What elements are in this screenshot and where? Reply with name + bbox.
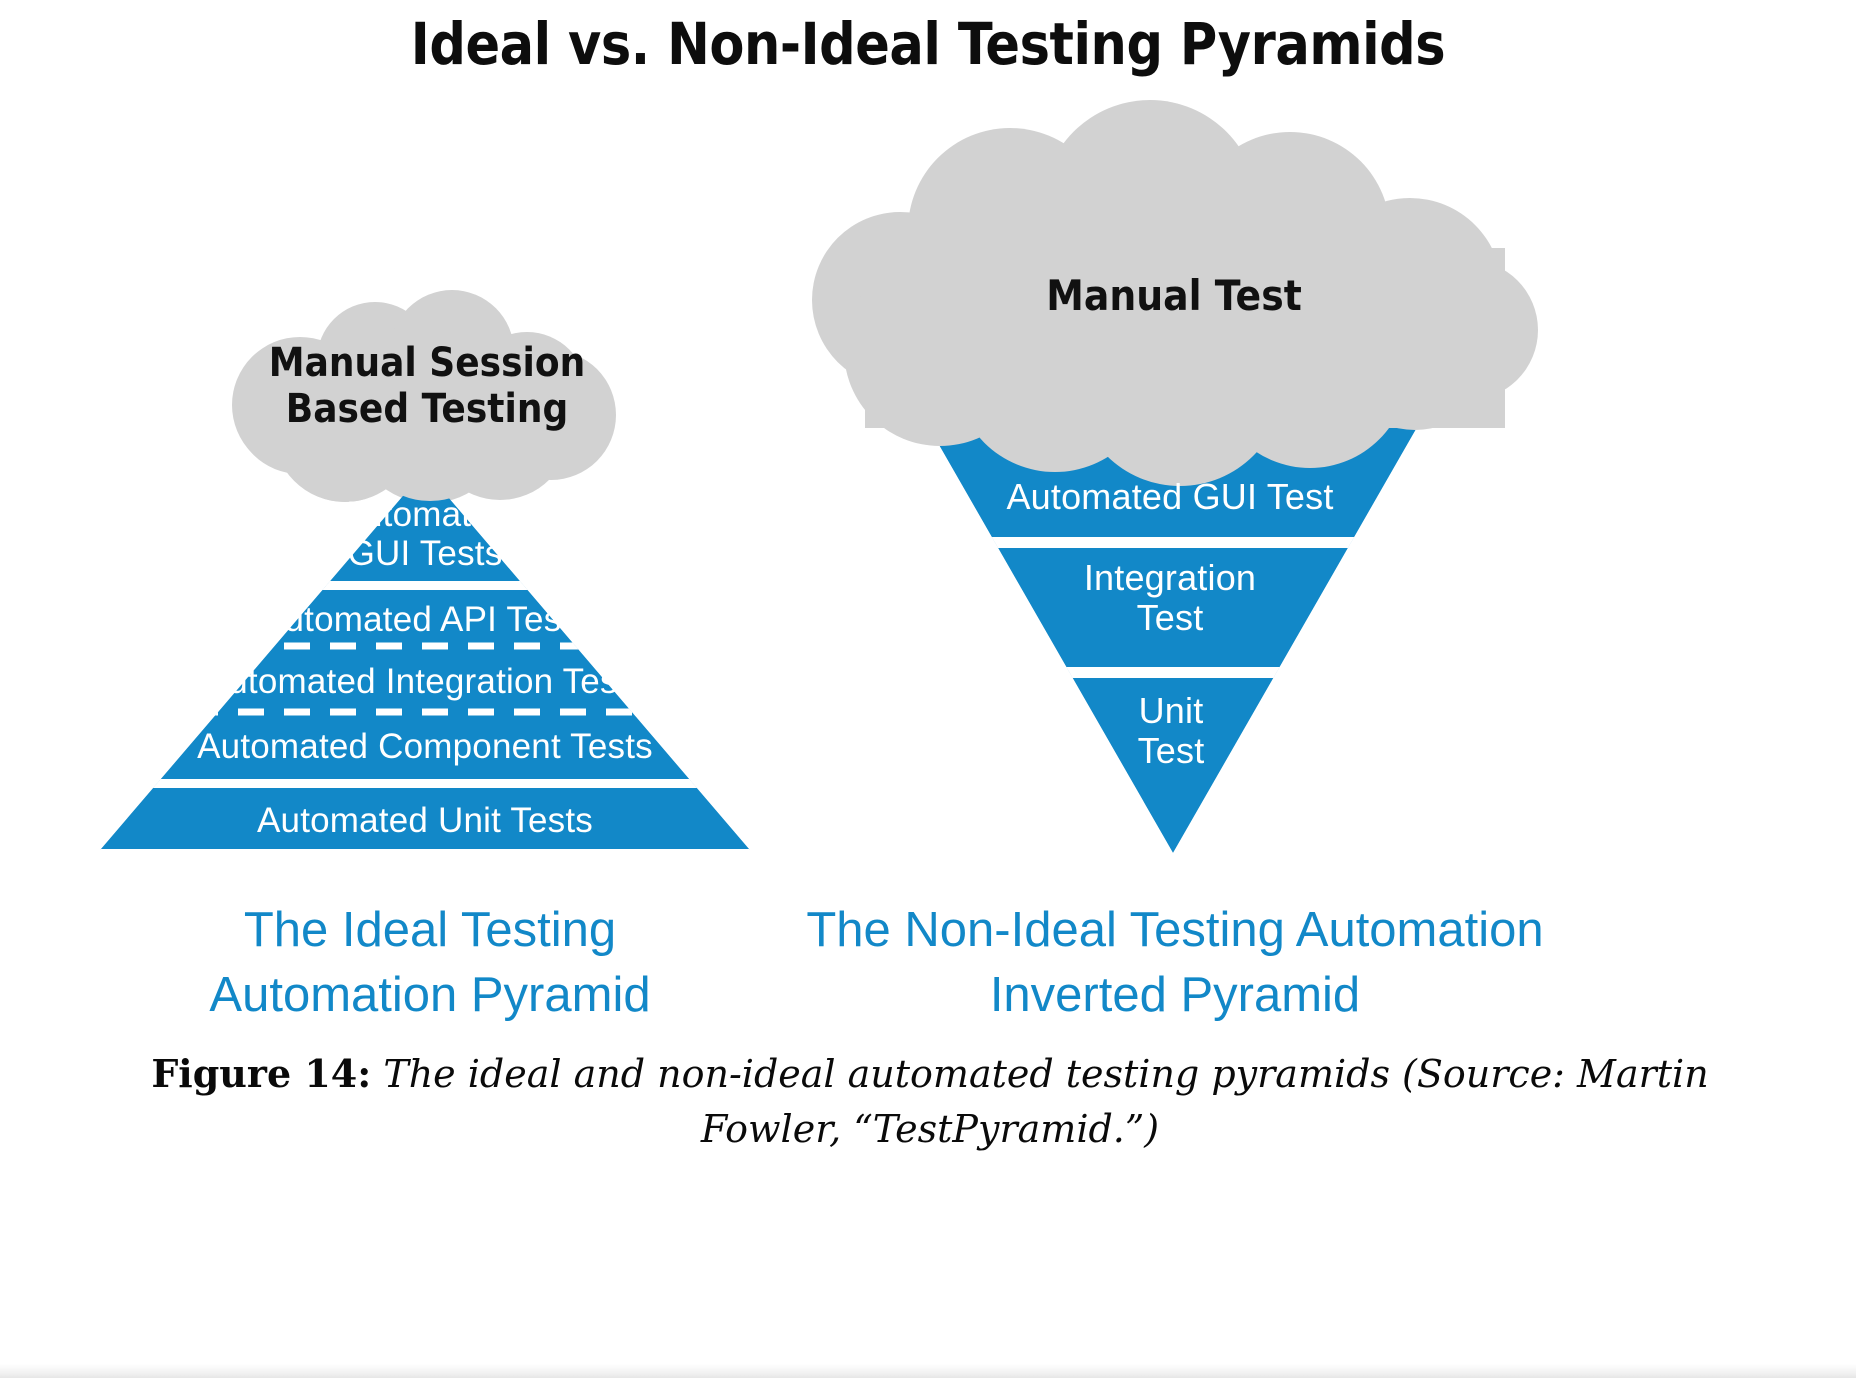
ideal-pyramid-shape: [90, 470, 770, 852]
manual-test-cloud: [812, 100, 1538, 486]
figure-caption-lead: Figure 14:: [151, 1051, 371, 1096]
page-bottom-edge: [0, 1364, 1856, 1378]
figure-caption: Figure 14: The ideal and non-ideal autom…: [110, 1046, 1750, 1157]
figure-canvas: Ideal vs. Non-Ideal Testing Pyramids: [0, 0, 1856, 1378]
diagrams-vector-layer: [0, 0, 1856, 1378]
figure-caption-body: The ideal and non-ideal automated testin…: [371, 1052, 1708, 1151]
caption-ideal-pyramid: The Ideal Testing Automation Pyramid: [120, 898, 740, 1028]
caption-non-ideal-pyramid: The Non-Ideal Testing Automation Inverte…: [790, 898, 1560, 1028]
